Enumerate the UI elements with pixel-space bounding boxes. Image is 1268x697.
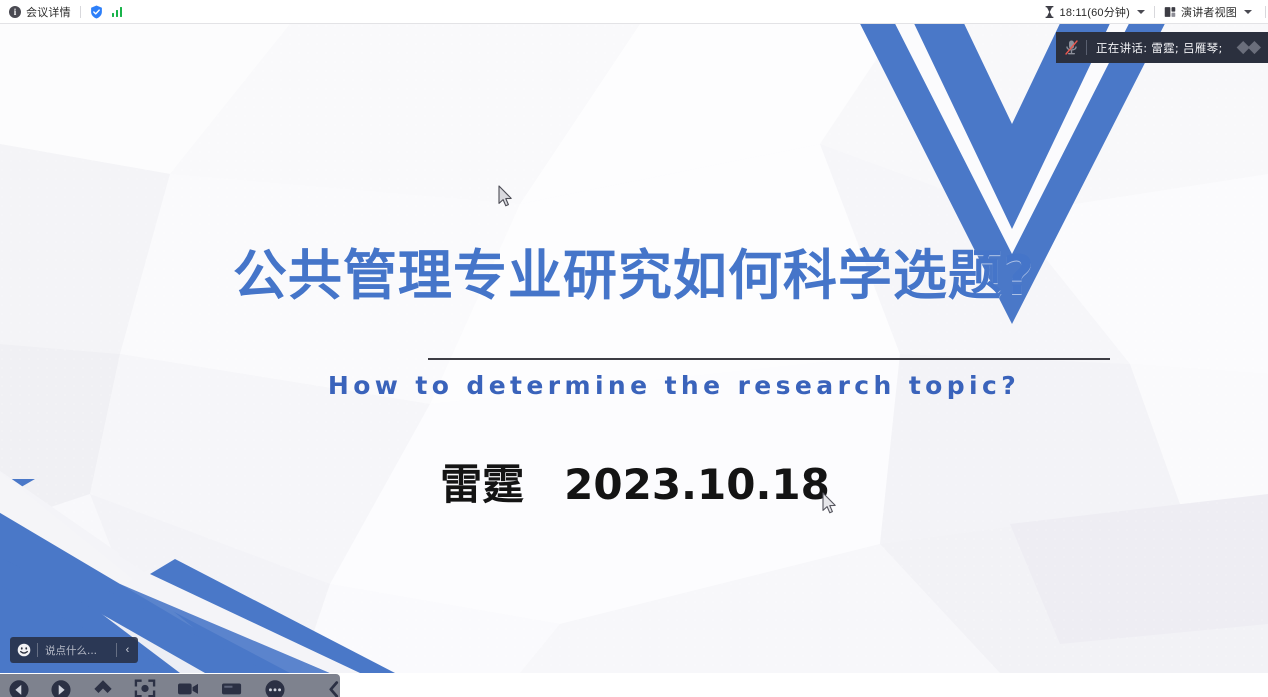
- top-bar-right-group: 18:11(60分钟) 演讲者视图: [1035, 4, 1268, 20]
- network-signal-indicator[interactable]: [112, 6, 132, 17]
- slide-author-date: 雷霆2023.10.18: [0, 451, 1268, 512]
- chevron-down-icon[interactable]: [1244, 10, 1252, 14]
- whiteboard-icon[interactable]: [220, 674, 244, 696]
- encryption-status-button[interactable]: [81, 5, 112, 19]
- info-circle-icon: i: [9, 6, 21, 18]
- top-bar: i 会议详情: [0, 0, 1268, 24]
- meeting-timer-button[interactable]: 18:11(60分钟): [1035, 4, 1154, 20]
- annotate-pen-icon[interactable]: [92, 674, 114, 696]
- active-speaker-label: 正在讲话: 雷霆; 吕雁琴;: [1087, 40, 1223, 56]
- slide-date: 2023.10.18: [564, 460, 830, 509]
- next-slide-icon[interactable]: [50, 674, 72, 696]
- more-options-icon[interactable]: [264, 674, 286, 696]
- presenter-view-button[interactable]: 演讲者视图: [1155, 4, 1261, 20]
- mouse-cursor-primary: [498, 185, 514, 213]
- hourglass-icon: [1044, 6, 1055, 18]
- meeting-details-button[interactable]: i 会议详情: [9, 4, 80, 20]
- slide-subtitle: How to determine the research topic?: [0, 371, 1268, 400]
- slide-text-content: 公共管理专业研究如何科学选题? How to determine the res…: [0, 24, 1268, 673]
- title-divider-rule: [428, 358, 1110, 360]
- slide-author-name: 雷霆: [440, 460, 524, 509]
- laser-focus-icon[interactable]: [134, 674, 156, 696]
- top-bar-left-group: i 会议详情: [0, 4, 131, 20]
- shield-check-icon: [90, 5, 103, 19]
- presentation-toolbar: [0, 674, 340, 697]
- previous-slide-icon[interactable]: [8, 674, 30, 696]
- chevron-down-icon[interactable]: [1137, 10, 1145, 14]
- signal-bars-icon: [112, 6, 123, 17]
- screen-share-window: i 会议详情: [0, 0, 1268, 697]
- presenter-view-label: 演讲者视图: [1181, 4, 1237, 20]
- divider: [1265, 6, 1266, 18]
- bottom-strip: [0, 673, 1268, 697]
- presenter-view-icon: [1164, 6, 1176, 18]
- camera-video-icon[interactable]: [176, 674, 200, 696]
- chevron-left-icon[interactable]: ‹: [116, 643, 138, 657]
- slide-title: 公共管理专业研究如何科学选题?: [0, 231, 1268, 310]
- collapse-toolbar-icon[interactable]: [326, 674, 340, 696]
- chat-input-placeholder[interactable]: 说点什么...: [38, 643, 116, 658]
- shared-slide-stage: 公共管理专业研究如何科学选题? How to determine the res…: [0, 24, 1268, 673]
- active-speaker-badge[interactable]: 正在讲话: 雷霆; 吕雁琴;: [1056, 32, 1268, 63]
- chat-input-bar[interactable]: 说点什么... ‹: [10, 637, 138, 663]
- mic-muted-icon: [1056, 39, 1086, 56]
- meeting-details-label: 会议详情: [26, 4, 71, 20]
- meeting-timer-label: 18:11(60分钟): [1060, 4, 1130, 20]
- double-chevron-left-icon[interactable]: [1231, 40, 1268, 55]
- mouse-cursor-secondary: [822, 492, 838, 520]
- emoji-smiley-icon[interactable]: [10, 643, 37, 657]
